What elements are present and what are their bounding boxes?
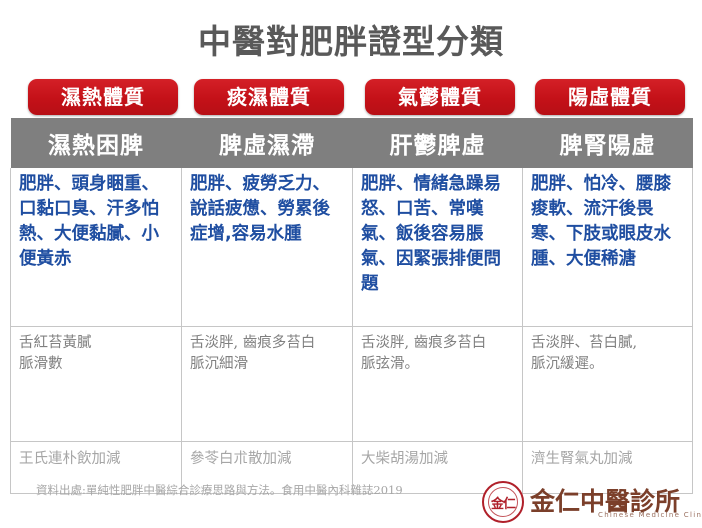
cell-symptoms-2: 肥胖、疲勞乏力、說話疲憊、勞累後症增,容易水腫: [182, 168, 353, 327]
cell-symptoms-1: 肥胖、頭身睏重、口黏口臭、汗多怕熱、大便黏膩、小便黃赤: [11, 168, 182, 327]
syndrome-classification-table: 濕熱困脾 脾虛濕滯 肝鬱脾虛 脾腎陽虛 肥胖、頭身睏重、口黏口臭、汗多怕熱、大便…: [10, 118, 693, 494]
clinic-logo: 金仁 金仁中醫診所 Chinese Medicine Clinic: [482, 479, 692, 525]
cell-symptoms-3: 肥胖、情緒急躁易怒、口苦、常嘆氣、飯後容易脹氣、因緊張排便問題: [353, 168, 523, 327]
constitution-badge-qi-stagnation: 氣鬱體質: [365, 79, 515, 115]
column-header-liver-qi-stagnation: 肝鬱脾虛: [353, 118, 523, 168]
cell-symptoms-4: 肥胖、怕冷、腰膝痠軟、流汗後畏寒、下肢或眼皮水腫、大便稀溏: [523, 168, 693, 327]
cell-tongue-pulse-2: 舌淡胖, 齒痕多苔白脈沉細滑: [182, 327, 353, 442]
constitution-badge-yang-deficiency: 陽虛體質: [535, 79, 685, 115]
cell-tongue-pulse-1: 舌紅苔黃膩脈滑數: [11, 327, 182, 442]
constitution-badge-row: 濕熱體質 痰濕體質 氣鬱體質 陽虛體質: [10, 79, 692, 117]
constitution-badge-damp-heat: 濕熱體質: [28, 79, 178, 115]
table-row-tongue-pulse: 舌紅苔黃膩脈滑數 舌淡胖, 齒痕多苔白脈沉細滑 舌淡胖, 齒痕多苔白脈弦滑。 舌…: [11, 327, 693, 442]
column-header-damp-heat-spleen: 濕熱困脾: [11, 118, 182, 168]
clinic-seal-text: 金仁: [484, 483, 522, 521]
table-row-symptoms: 肥胖、頭身睏重、口黏口臭、汗多怕熱、大便黏膩、小便黃赤 肥胖、疲勞乏力、說話疲憊…: [11, 168, 693, 327]
clinic-subtitle: Chinese Medicine Clinic: [598, 511, 702, 519]
column-header-spleen-deficiency: 脾虛濕滯: [182, 118, 353, 168]
constitution-badge-phlegm-damp: 痰濕體質: [194, 79, 344, 115]
page-title: 中醫對肥胖證型分類: [0, 22, 702, 62]
clinic-seal-icon: 金仁: [482, 481, 524, 523]
cell-tongue-pulse-4: 舌淡胖、苔白膩,脈沉緩遲。: [523, 327, 693, 442]
column-header-spleen-kidney-yang: 脾腎陽虛: [523, 118, 693, 168]
table-header-row: 濕熱困脾 脾虛濕滯 肝鬱脾虛 脾腎陽虛: [11, 118, 693, 168]
source-note: 資料出處:單純性肥胖中醫綜合診療思路與方法。食用中醫內科雜誌2019: [36, 482, 466, 498]
cell-tongue-pulse-3: 舌淡胖, 齒痕多苔白脈弦滑。: [353, 327, 523, 442]
